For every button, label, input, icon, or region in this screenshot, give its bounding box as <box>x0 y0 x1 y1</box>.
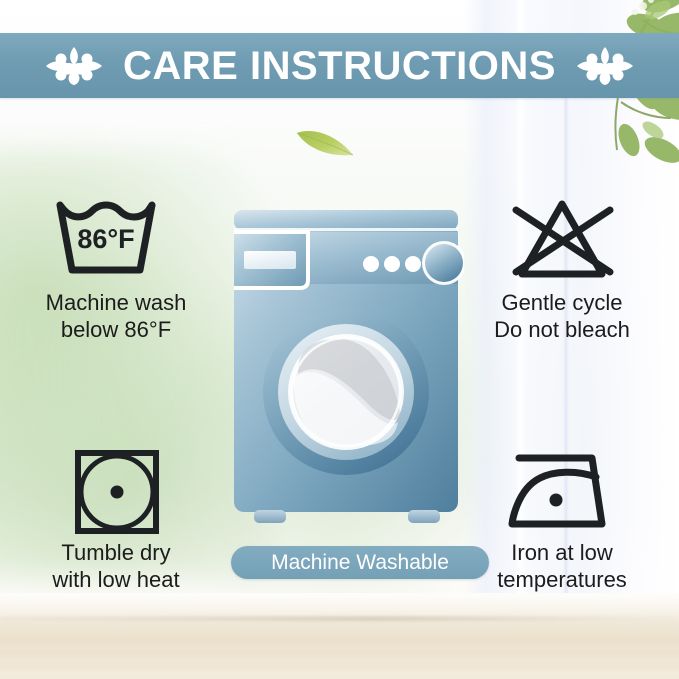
control-button-2[interactable] <box>384 256 400 272</box>
care-symbol-do-not-bleach: Gentle cycle Do not bleach <box>462 196 662 344</box>
detergent-drawer[interactable] <box>244 251 296 269</box>
washer-foot-right <box>408 510 440 523</box>
care-label-iron: Iron at low temperatures <box>497 540 627 594</box>
fleur-de-lis-right-icon <box>576 44 634 88</box>
care-symbol-machine-wash: 86°F Machine wash below 86°F <box>16 196 216 344</box>
fleur-de-lis-left-icon <box>45 44 103 88</box>
care-symbol-iron: Iron at low temperatures <box>462 446 662 594</box>
iron-heat-dot <box>550 494 563 507</box>
washer-top-panel <box>234 210 458 230</box>
care-label-tumble-dry: Tumble dry with low heat <box>52 540 179 594</box>
page-title: CARE INSTRUCTIONS <box>123 46 556 86</box>
machine-washable-badge: Machine Washable <box>231 546 489 579</box>
washer-foot-left <box>254 510 286 523</box>
wash-temperature-value: 86°F <box>77 224 134 254</box>
care-label-machine-wash: Machine wash below 86°F <box>46 290 187 344</box>
care-instructions-infographic: CARE INSTRUCTIONS 86°F Machine wash belo… <box>0 0 679 679</box>
washing-machine-illustration <box>228 206 464 536</box>
tumble-dry-icon <box>46 446 186 538</box>
control-button-1[interactable] <box>363 256 379 272</box>
program-selector-knob[interactable] <box>425 244 463 282</box>
header-banner: CARE INSTRUCTIONS <box>0 33 679 98</box>
iron-icon <box>492 446 632 538</box>
control-button-3[interactable] <box>405 256 421 272</box>
care-label-do-not-bleach: Gentle cycle Do not bleach <box>494 290 630 344</box>
machine-washable-badge-label: Machine Washable <box>271 552 449 573</box>
care-symbol-tumble-dry: Tumble dry with low heat <box>16 446 216 594</box>
triangle-crossed-out-icon <box>492 196 632 288</box>
table-light-haze <box>0 593 679 639</box>
tumble-dry-heat-dot <box>111 486 124 499</box>
wash-tub-icon: 86°F <box>46 196 186 288</box>
